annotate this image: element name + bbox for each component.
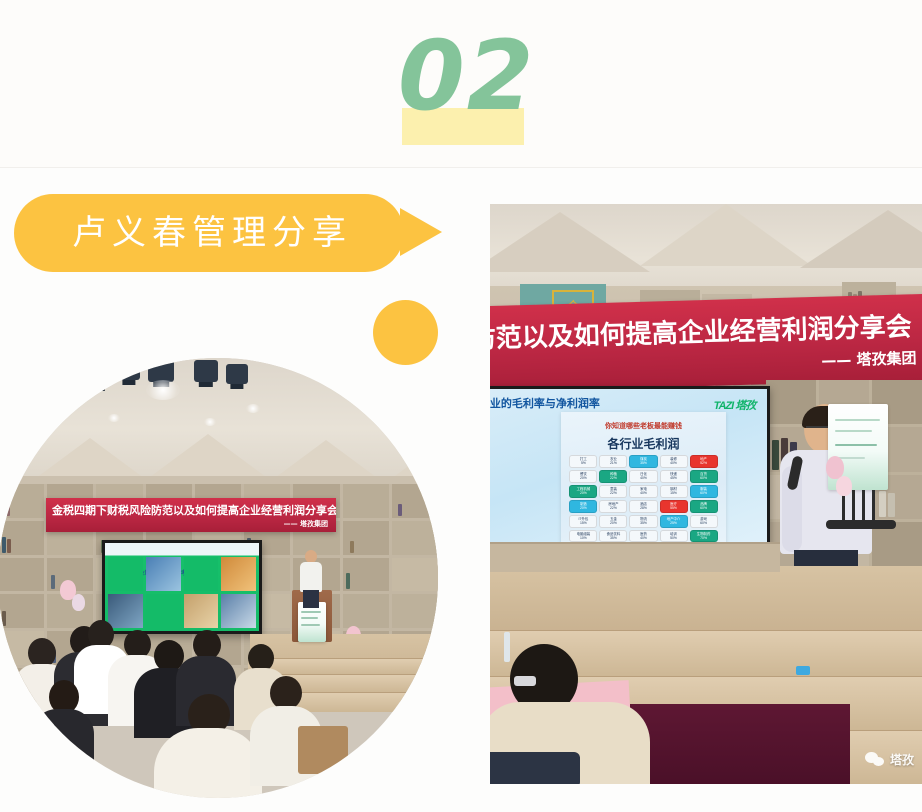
wechat-icon bbox=[865, 752, 885, 768]
industry-cell-value: 20% bbox=[570, 476, 596, 480]
slide-tile bbox=[108, 557, 143, 591]
industry-cell-value: 20% bbox=[570, 506, 596, 510]
downlight-icon bbox=[204, 418, 216, 426]
industry-cell-value: 55% bbox=[661, 506, 687, 510]
industry-cell-value: 60% bbox=[691, 521, 717, 525]
balloon-icon bbox=[72, 594, 85, 611]
industry-cell-value: 60% bbox=[691, 476, 717, 480]
title-bubble-tail-icon bbox=[400, 208, 442, 256]
slide-tile-image bbox=[221, 557, 256, 591]
industry-cell-value: 35% bbox=[630, 521, 656, 525]
watermark-label: 塔孜 bbox=[890, 751, 914, 768]
industry-cell-value: 28% bbox=[630, 506, 656, 510]
industry-cell-value: 20% bbox=[570, 491, 596, 495]
watermark: 塔孜 bbox=[865, 751, 914, 768]
industry-cell: 打工5% bbox=[569, 455, 597, 468]
event-banner: 防范以及如何提高企业经营利润分享会 —— 塔孜集团 bbox=[490, 294, 922, 393]
downlight-icon bbox=[246, 404, 260, 413]
standee-leg bbox=[852, 490, 855, 522]
title-bubble: 卢义春管理分享 bbox=[14, 194, 404, 272]
industry-cell-value: 40% bbox=[630, 476, 656, 480]
industry-cell: 品牌60% bbox=[690, 500, 718, 513]
stage-lamp-icon bbox=[226, 364, 248, 384]
slide-tile-image bbox=[184, 594, 219, 628]
industry-cell: 制造20% bbox=[569, 500, 597, 513]
industry-cell-value: 5% bbox=[570, 461, 596, 465]
balloon-icon bbox=[836, 476, 852, 496]
wall-apex bbox=[490, 212, 650, 272]
industry-cell: 种植22% bbox=[599, 470, 627, 483]
industry-cell-value: 20% bbox=[600, 521, 626, 525]
industry-cell: 医疗55% bbox=[660, 500, 688, 513]
banner-headline: 金税四期下财税风险防范以及如何提高企业经营利润分享会 bbox=[52, 502, 336, 518]
industry-cell-value: 35% bbox=[630, 461, 656, 465]
stage-floor bbox=[490, 566, 922, 632]
downlight-icon bbox=[108, 414, 120, 422]
audience-person bbox=[32, 680, 94, 798]
downlight-icon bbox=[146, 380, 180, 400]
wall-apex bbox=[800, 210, 922, 268]
hair-clip-icon bbox=[514, 676, 536, 686]
industry-cell-value: 60% bbox=[691, 491, 717, 495]
poster-page: 02 卢义春管理分享 bbox=[0, 0, 922, 812]
industry-cell: 酒店28% bbox=[629, 500, 657, 513]
stage-lamp-icon bbox=[118, 360, 140, 380]
banner-subline: —— 塔孜集团 bbox=[46, 519, 328, 529]
poster-kicker: 你知道哪些老板最能赚钱 bbox=[561, 421, 726, 431]
industry-cell: 五金20% bbox=[599, 515, 627, 528]
industry-cell: 服装60% bbox=[690, 485, 718, 498]
industry-cell: 培训50% bbox=[660, 530, 688, 543]
industry-cell-value: 21% bbox=[600, 461, 626, 465]
industry-cell: 煤炭35% bbox=[629, 455, 657, 468]
standee-leg bbox=[862, 490, 865, 522]
poster-title: 各行业毛利润 bbox=[561, 435, 726, 452]
industry-cell: 童装22% bbox=[599, 485, 627, 498]
chair-arm bbox=[298, 726, 348, 774]
industry-cell-value: 15% bbox=[661, 491, 687, 495]
slide-tile bbox=[146, 594, 181, 628]
industry-cell: IT外包15% bbox=[569, 515, 597, 528]
industry-cell: 农业21% bbox=[599, 455, 627, 468]
industry-cell: 工程机械20% bbox=[569, 485, 597, 498]
industry-cell-value: 40% bbox=[661, 461, 687, 465]
industry-cell: 房地产22% bbox=[599, 500, 627, 513]
stage-lamp-icon bbox=[148, 358, 174, 382]
industry-cell-value: 25% bbox=[661, 521, 687, 525]
title-bubble-label: 卢义春管理分享 bbox=[14, 194, 404, 272]
downlight-icon bbox=[44, 392, 60, 402]
band-divider bbox=[0, 167, 922, 168]
slide-header bbox=[105, 543, 259, 555]
industry-cell: 装修40% bbox=[660, 455, 688, 468]
scene-speaker: 合 防范以及如何提高企业经营利润分享会 —— 塔孜集团 bbox=[490, 204, 922, 784]
stage-lamp-icon bbox=[86, 364, 110, 386]
wall-apex bbox=[146, 434, 270, 480]
tape-marker bbox=[796, 666, 810, 675]
chair-back bbox=[490, 752, 580, 784]
industry-cell-value: 52% bbox=[691, 461, 717, 465]
slide-tile-image bbox=[221, 594, 256, 628]
industry-cell: 日化40% bbox=[629, 470, 657, 483]
industry-cell: 医药40% bbox=[629, 530, 657, 543]
industry-cell-value: 22% bbox=[600, 491, 626, 495]
industry-cell: 地产中介25% bbox=[660, 515, 688, 528]
industry-cell: 地产52% bbox=[690, 455, 718, 468]
accent-dot bbox=[373, 300, 438, 365]
industry-cell: 生物制药70% bbox=[690, 530, 718, 543]
standee-leg bbox=[872, 490, 875, 522]
photo-speaker-rect: 合 防范以及如何提高企业经营利润分享会 —— 塔孜集团 bbox=[490, 204, 922, 784]
standee-sign bbox=[298, 602, 326, 642]
tazi-logo: TAZI 塔孜 bbox=[714, 397, 756, 413]
industry-cell-value: 10% bbox=[570, 536, 596, 540]
industry-cell: 游戏60% bbox=[690, 515, 718, 528]
water-bottle-icon bbox=[504, 632, 510, 662]
speaker-person bbox=[298, 550, 324, 608]
industry-cell: 餐饮20% bbox=[569, 470, 597, 483]
industry-cell: 快递45% bbox=[660, 470, 688, 483]
industry-cell-value: 40% bbox=[630, 491, 656, 495]
wall-apex bbox=[640, 204, 812, 266]
industry-cell: 钢材15% bbox=[660, 485, 688, 498]
slide-heading: 行业的毛利率与净利润率 bbox=[490, 395, 600, 411]
industry-cell-value: 22% bbox=[600, 476, 626, 480]
stage-lamp-icon bbox=[194, 360, 218, 382]
industry-cell: 物流35% bbox=[629, 515, 657, 528]
scene-audience: 金税四期下财税风险防范以及如何提高企业经营利润分享会 —— 塔孜集团 NO.2 … bbox=[0, 358, 438, 798]
standee-base bbox=[826, 520, 896, 529]
lower-shelf-run bbox=[490, 542, 780, 572]
slide-tile-grid bbox=[108, 557, 256, 628]
industry-cell: 百货60% bbox=[690, 470, 718, 483]
industry-cell: 家电40% bbox=[629, 485, 657, 498]
industry-cell-value: 40% bbox=[630, 536, 656, 540]
slide-green: NO.2 企业职胶费征军思考几个问题 TAZI 塔孜 bbox=[105, 543, 259, 631]
industry-cell-value: 22% bbox=[600, 506, 626, 510]
event-banner: 金税四期下财税风险防范以及如何提高企业经营利润分享会 —— 塔孜集团 bbox=[46, 498, 336, 532]
industry-cell: 食品饮料35% bbox=[599, 530, 627, 543]
audience-person bbox=[154, 694, 262, 798]
slide-tile-image bbox=[146, 557, 181, 591]
industry-cell-value: 15% bbox=[570, 521, 596, 525]
industry-cell-value: 35% bbox=[600, 536, 626, 540]
industry-cell-value: 70% bbox=[691, 536, 717, 540]
section-number: 02 bbox=[398, 22, 528, 132]
industry-cell: 电脑组装10% bbox=[569, 530, 597, 543]
table-cloth bbox=[630, 704, 850, 784]
section-number-block: 02 bbox=[398, 22, 528, 142]
industry-cell-value: 45% bbox=[661, 476, 687, 480]
industry-cell-value: 60% bbox=[691, 506, 717, 510]
slide-tile bbox=[184, 557, 219, 591]
photo-audience-circular: 金税四期下财税风险防范以及如何提高企业经营利润分享会 —— 塔孜集团 NO.2 … bbox=[0, 358, 438, 798]
industry-cell-value: 50% bbox=[661, 536, 687, 540]
